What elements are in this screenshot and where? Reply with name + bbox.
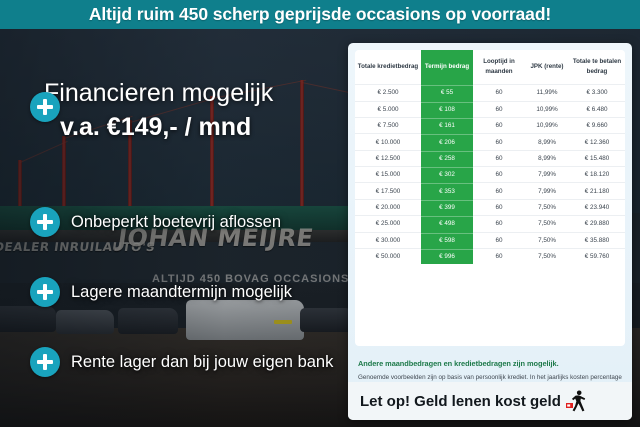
monthly-payment-cell: € 206 xyxy=(421,134,473,150)
table-cell: € 7.500 xyxy=(355,117,421,133)
monthly-payment-cell: € 353 xyxy=(421,183,473,199)
table-cell: 7,99% xyxy=(525,183,569,199)
table-cell: € 17.500 xyxy=(355,183,421,199)
headline-bullet xyxy=(30,92,60,122)
headline-primary: Financieren mogelijk xyxy=(44,79,273,108)
table-cell: € 15.480 xyxy=(569,150,625,166)
table-row: € 20.000€ 399607,50%€ 23.940 xyxy=(355,199,625,215)
table-row: € 15.000€ 302607,99%€ 18.120 xyxy=(355,167,625,183)
table-cell: € 3.300 xyxy=(569,85,625,101)
financing-card: Totale kredietbedragTermijn bedragLoopti… xyxy=(348,43,632,420)
running-man-wallet-icon xyxy=(566,390,586,412)
benefit-item-3: Rente lager dan bij jouw eigen bank xyxy=(30,347,333,377)
table-cell: 60 xyxy=(473,150,525,166)
table-row: € 17.500€ 353607,99%€ 21.180 xyxy=(355,183,625,199)
table-column-header: Totale te betalen bedrag xyxy=(569,50,625,85)
monthly-payment-cell: € 302 xyxy=(421,167,473,183)
table-cell: € 23.940 xyxy=(569,199,625,215)
plus-icon xyxy=(30,347,60,377)
benefit-label: Rente lager dan bij jouw eigen bank xyxy=(71,353,333,372)
benefits-list: Financieren mogelijk v.a. €149,- / mnd O… xyxy=(0,29,350,427)
monthly-payment-cell: € 161 xyxy=(421,117,473,133)
table-column-header: JPK (rente) xyxy=(525,50,569,85)
top-banner-text: Altijd ruim 450 scherp geprijsde occasio… xyxy=(89,4,551,25)
table-row: € 2.500€ 556011,99%€ 3.300 xyxy=(355,85,625,101)
monthly-payment-cell: € 258 xyxy=(421,150,473,166)
table-cell: € 20.000 xyxy=(355,199,421,215)
benefit-label: Onbeperkt boetevrij aflossen xyxy=(71,213,281,232)
monthly-payment-cell: € 598 xyxy=(421,232,473,248)
table-cell: 10,99% xyxy=(525,117,569,133)
table-header-row: Totale kredietbedragTermijn bedragLoopti… xyxy=(355,50,625,85)
monthly-payment-cell: € 996 xyxy=(421,248,473,264)
loan-table: Totale kredietbedragTermijn bedragLoopti… xyxy=(355,50,625,264)
table-cell: € 25.000 xyxy=(355,216,421,232)
table-cell: 60 xyxy=(473,134,525,150)
table-cell: 60 xyxy=(473,117,525,133)
table-column-header: Looptijd in maanden xyxy=(473,50,525,85)
monthly-payment-cell: € 55 xyxy=(421,85,473,101)
table-cell: € 5.000 xyxy=(355,101,421,117)
table-cell: € 18.120 xyxy=(569,167,625,183)
monthly-payment-cell: € 108 xyxy=(421,101,473,117)
table-cell: € 6.480 xyxy=(569,101,625,117)
table-cell: 7,50% xyxy=(525,232,569,248)
benefit-item-1: Onbeperkt boetevrij aflossen xyxy=(30,207,281,237)
loan-table-container: Totale kredietbedragTermijn bedragLoopti… xyxy=(355,50,625,346)
table-cell: € 30.000 xyxy=(355,232,421,248)
table-row: € 5.000€ 1086010,99%€ 6.480 xyxy=(355,101,625,117)
top-banner: Altijd ruim 450 scherp geprijsde occasio… xyxy=(0,0,640,29)
table-row: € 25.000€ 498607,50%€ 29.880 xyxy=(355,216,625,232)
table-row: € 10.000€ 206608,99%€ 12.360 xyxy=(355,134,625,150)
table-cell: 60 xyxy=(473,167,525,183)
table-cell: 7,99% xyxy=(525,167,569,183)
table-cell: 60 xyxy=(473,232,525,248)
plus-icon xyxy=(30,277,60,307)
table-column-header: Termijn bedrag xyxy=(421,50,473,85)
monthly-payment-cell: € 498 xyxy=(421,216,473,232)
table-cell: 60 xyxy=(473,199,525,215)
plus-icon xyxy=(30,92,60,122)
table-cell: 8,99% xyxy=(525,150,569,166)
table-row: € 30.000€ 598607,50%€ 35.880 xyxy=(355,232,625,248)
table-cell: 60 xyxy=(473,85,525,101)
legal-warning-text: Let op! Geld lenen kost geld xyxy=(360,393,561,410)
headline-price: v.a. €149,- / mnd xyxy=(60,113,251,142)
table-cell: € 15.000 xyxy=(355,167,421,183)
table-cell: € 10.000 xyxy=(355,134,421,150)
monthly-payment-cell: € 399 xyxy=(421,199,473,215)
table-row: € 12.500€ 258608,99%€ 15.480 xyxy=(355,150,625,166)
table-cell: € 29.880 xyxy=(569,216,625,232)
table-cell: € 21.180 xyxy=(569,183,625,199)
table-cell: € 2.500 xyxy=(355,85,421,101)
benefit-label: Lagere maandtermijn mogelijk xyxy=(71,283,292,302)
table-column-header: Totale kredietbedrag xyxy=(355,50,421,85)
table-row: € 7.500€ 1616010,99%€ 9.660 xyxy=(355,117,625,133)
promo-banner-image: DEALER INRUILAUTO'S JOHAN MEIJRE ALTIJD … xyxy=(0,0,640,427)
table-cell: € 59.760 xyxy=(569,248,625,264)
table-cell: € 35.880 xyxy=(569,232,625,248)
note-heading: Andere maandbedragen en kredietbedragen … xyxy=(358,359,624,368)
plus-icon xyxy=(30,207,60,237)
table-cell: 60 xyxy=(473,101,525,117)
benefit-item-2: Lagere maandtermijn mogelijk xyxy=(30,277,292,307)
table-cell: 60 xyxy=(473,183,525,199)
table-cell: € 9.660 xyxy=(569,117,625,133)
table-cell: € 12.360 xyxy=(569,134,625,150)
table-cell: € 50.000 xyxy=(355,248,421,264)
table-cell: 60 xyxy=(473,248,525,264)
table-row: € 50.000€ 996607,50%€ 59.760 xyxy=(355,248,625,264)
table-cell: 60 xyxy=(473,216,525,232)
table-cell: 7,50% xyxy=(525,248,569,264)
table-cell: 8,99% xyxy=(525,134,569,150)
table-cell: 7,50% xyxy=(525,199,569,215)
table-cell: 10,99% xyxy=(525,101,569,117)
table-cell: € 12.500 xyxy=(355,150,421,166)
legal-warning-bar: Let op! Geld lenen kost geld xyxy=(348,382,632,420)
table-cell: 7,50% xyxy=(525,216,569,232)
table-cell: 11,99% xyxy=(525,85,569,101)
